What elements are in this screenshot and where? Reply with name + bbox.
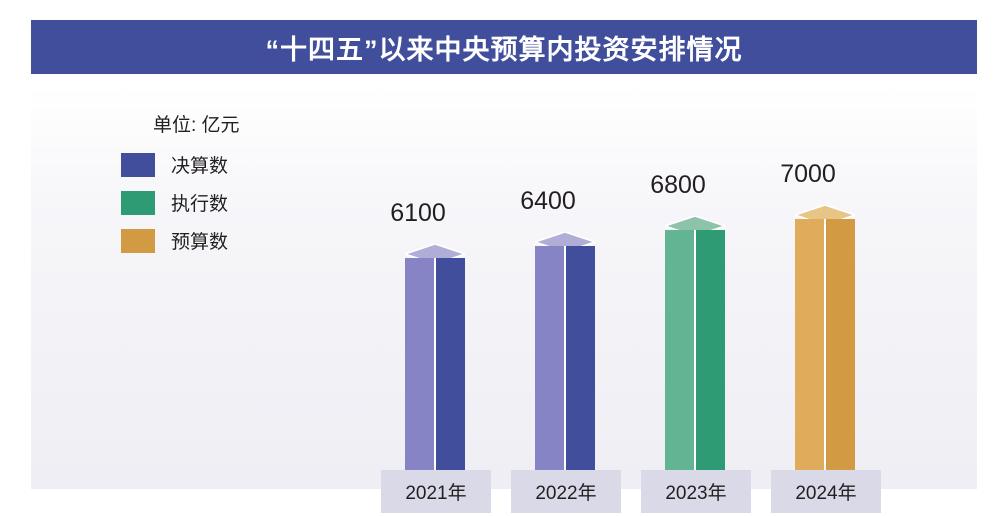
- bar-value-label-2024: 7000: [743, 160, 873, 189]
- bar-left-face-2022: [535, 246, 564, 470]
- bar-edge-highlight-2021: [434, 258, 436, 470]
- bar-value-label-2023: 6800: [613, 171, 743, 200]
- bar-value-label-2022: 6400: [483, 187, 613, 216]
- page-title: “十四五”以来中央预算内投资安排情况: [266, 28, 743, 67]
- bar-right-face-2024: [826, 219, 855, 470]
- bar-column-2023: [665, 230, 725, 470]
- bar-category-label-2024: 2024年: [771, 470, 881, 513]
- bar-chart-plot-area: 6100 2021年 6400: [31, 86, 977, 489]
- bar-right-face-2021: [436, 258, 465, 470]
- bar-edge-highlight-2022: [564, 246, 566, 470]
- bar-right-face-2023: [696, 230, 725, 470]
- bar-edge-highlight-2024: [824, 219, 826, 470]
- bar-column-2022: [535, 246, 595, 470]
- bar-column-2021: [405, 258, 465, 470]
- chart-panel: 单位: 亿元 决算数 执行数 预算数 6100: [31, 86, 977, 489]
- bar-column-2024: [795, 219, 855, 470]
- bar-edge-highlight-2023: [694, 230, 696, 470]
- chart-title-bar: “十四五”以来中央预算内投资安排情况: [31, 20, 977, 74]
- bar-group-2024: 7000 2024年: [735, 159, 925, 489]
- bar-left-face-2023: [665, 230, 694, 470]
- bar-value-label-2021: 6100: [353, 199, 483, 228]
- bar-left-face-2024: [795, 219, 824, 470]
- bar-right-face-2022: [566, 246, 595, 470]
- bar-left-face-2021: [405, 258, 434, 470]
